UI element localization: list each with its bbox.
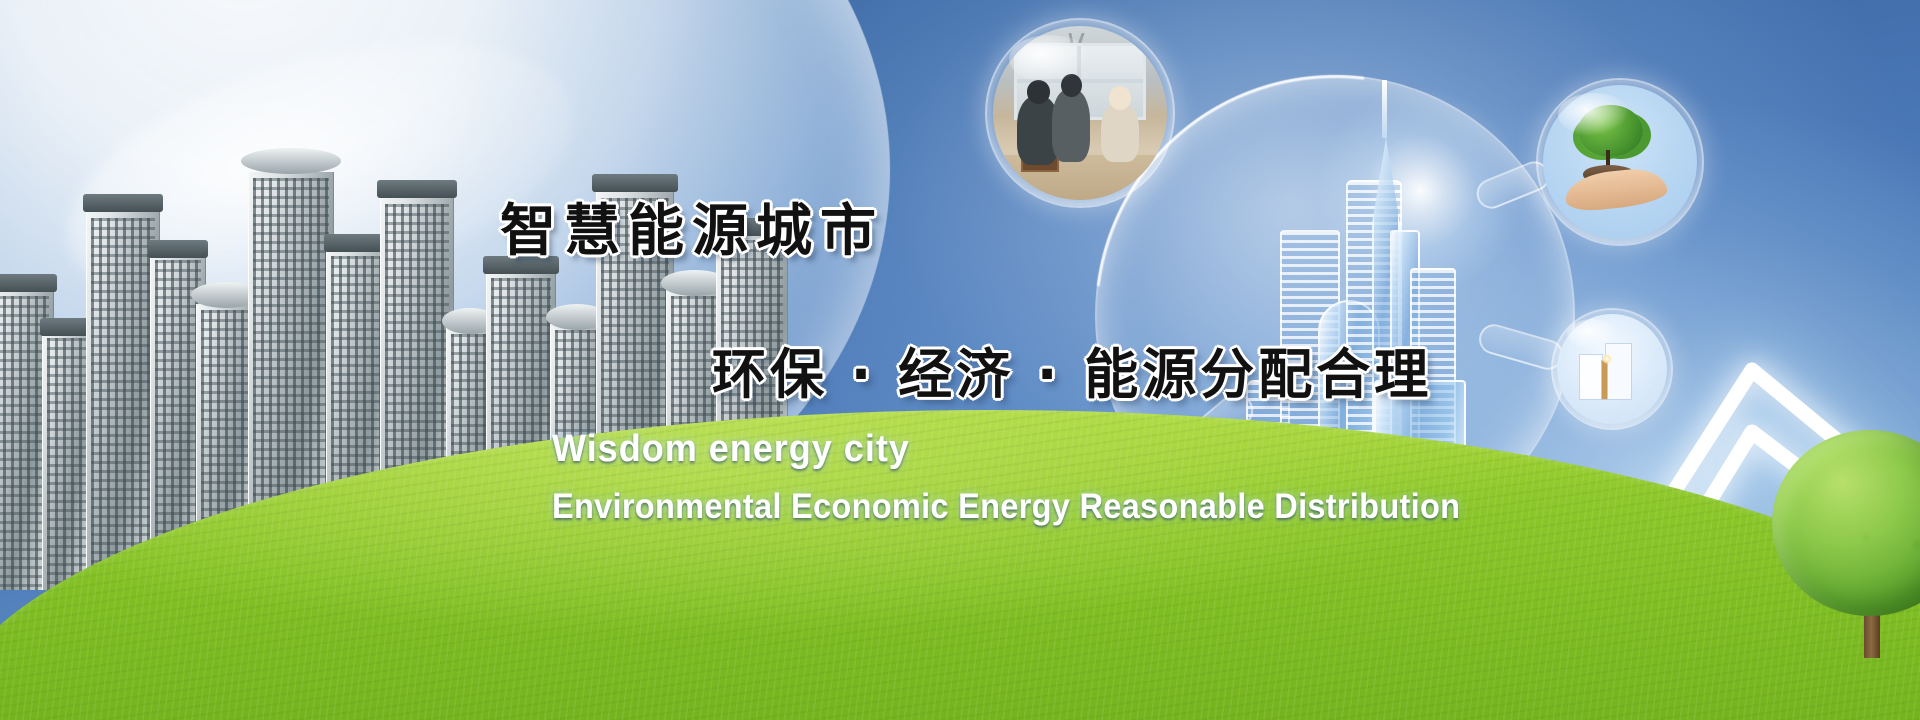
tagline-english-secondary: Environmental Economic Energy Reasonable…	[552, 487, 1460, 527]
hero-banner: 智慧能源城市 环保 · 经济 · 能源分配合理 Wisdom energy ci…	[0, 0, 1920, 720]
tagline-english-primary: Wisdom energy city	[552, 428, 910, 471]
banner-text-block: 智慧能源城市 环保 · 经济 · 能源分配合理 Wisdom energy ci…	[0, 0, 1920, 720]
page-title: 智慧能源城市	[500, 186, 884, 267]
page-subtitle: 环保 · 经济 · 能源分配合理	[712, 330, 1432, 409]
